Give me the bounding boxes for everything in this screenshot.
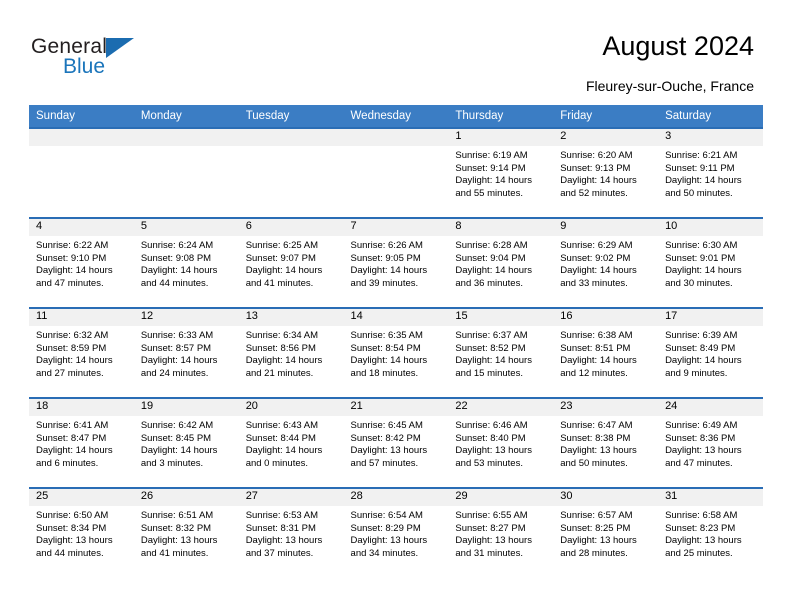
daylight-duration-line1: Daylight: 13 hours bbox=[36, 535, 128, 548]
day-number: 1 bbox=[448, 129, 553, 146]
calendar-day-cell-inner: 15Sunrise: 6:37 AMSunset: 8:52 PMDayligh… bbox=[448, 309, 553, 397]
day-details: Sunrise: 6:24 AMSunset: 9:08 PMDaylight:… bbox=[134, 236, 239, 290]
sunset-time: Sunset: 8:56 PM bbox=[246, 343, 338, 356]
day-details: Sunrise: 6:45 AMSunset: 8:42 PMDaylight:… bbox=[344, 416, 449, 470]
calendar-day-cell[interactable]: 14Sunrise: 6:35 AMSunset: 8:54 PMDayligh… bbox=[344, 308, 449, 398]
daylight-duration-line2: and 21 minutes. bbox=[246, 368, 338, 381]
calendar-day-cell[interactable]: 26Sunrise: 6:51 AMSunset: 8:32 PMDayligh… bbox=[134, 488, 239, 577]
calendar-day-cell-inner: 25Sunrise: 6:50 AMSunset: 8:34 PMDayligh… bbox=[29, 489, 134, 577]
day-number: 31 bbox=[658, 489, 763, 506]
sunset-time: Sunset: 8:57 PM bbox=[141, 343, 233, 356]
sunset-time: Sunset: 9:08 PM bbox=[141, 253, 233, 266]
day-details: Sunrise: 6:58 AMSunset: 8:23 PMDaylight:… bbox=[658, 506, 763, 560]
calendar-week-row: 25Sunrise: 6:50 AMSunset: 8:34 PMDayligh… bbox=[29, 488, 763, 577]
day-number: 11 bbox=[29, 309, 134, 326]
day-details: Sunrise: 6:33 AMSunset: 8:57 PMDaylight:… bbox=[134, 326, 239, 380]
calendar-day-cell[interactable]: 30Sunrise: 6:57 AMSunset: 8:25 PMDayligh… bbox=[553, 488, 658, 577]
daylight-duration-line1: Daylight: 13 hours bbox=[560, 535, 652, 548]
sunset-time: Sunset: 8:29 PM bbox=[351, 523, 443, 536]
sunrise-time: Sunrise: 6:25 AM bbox=[246, 240, 338, 253]
sunrise-time: Sunrise: 6:37 AM bbox=[455, 330, 547, 343]
sunset-time: Sunset: 8:38 PM bbox=[560, 433, 652, 446]
calendar-day-cell-inner: 2Sunrise: 6:20 AMSunset: 9:13 PMDaylight… bbox=[553, 129, 658, 217]
sunrise-time: Sunrise: 6:32 AM bbox=[36, 330, 128, 343]
daylight-duration-line2: and 57 minutes. bbox=[351, 458, 443, 471]
sunrise-time: Sunrise: 6:50 AM bbox=[36, 510, 128, 523]
calendar-day-cell[interactable]: 22Sunrise: 6:46 AMSunset: 8:40 PMDayligh… bbox=[448, 398, 553, 488]
calendar-day-cell[interactable]: 1Sunrise: 6:19 AMSunset: 9:14 PMDaylight… bbox=[448, 128, 553, 218]
weekday-header-saturday: Saturday bbox=[658, 105, 763, 128]
day-number: 7 bbox=[344, 219, 449, 236]
day-number: 4 bbox=[29, 219, 134, 236]
daylight-duration-line1: Daylight: 14 hours bbox=[141, 355, 233, 368]
day-number bbox=[239, 129, 344, 146]
daylight-duration-line1: Daylight: 14 hours bbox=[560, 355, 652, 368]
day-number: 20 bbox=[239, 399, 344, 416]
calendar-day-cell[interactable]: 9Sunrise: 6:29 AMSunset: 9:02 PMDaylight… bbox=[553, 218, 658, 308]
day-details: Sunrise: 6:50 AMSunset: 8:34 PMDaylight:… bbox=[29, 506, 134, 560]
sunset-time: Sunset: 9:14 PM bbox=[455, 163, 547, 176]
calendar-day-cell[interactable]: 19Sunrise: 6:42 AMSunset: 8:45 PMDayligh… bbox=[134, 398, 239, 488]
calendar-day-cell-inner: 8Sunrise: 6:28 AMSunset: 9:04 PMDaylight… bbox=[448, 219, 553, 307]
day-number: 26 bbox=[134, 489, 239, 506]
daylight-duration-line2: and 6 minutes. bbox=[36, 458, 128, 471]
calendar-day-cell[interactable] bbox=[344, 128, 449, 218]
daylight-duration-line2: and 0 minutes. bbox=[246, 458, 338, 471]
daylight-duration-line1: Daylight: 13 hours bbox=[665, 535, 757, 548]
calendar-day-cell-inner: 6Sunrise: 6:25 AMSunset: 9:07 PMDaylight… bbox=[239, 219, 344, 307]
calendar-day-cell-empty bbox=[344, 129, 449, 217]
sunset-time: Sunset: 8:31 PM bbox=[246, 523, 338, 536]
calendar-grid: Sunday Monday Tuesday Wednesday Thursday… bbox=[29, 105, 763, 577]
daylight-duration-line1: Daylight: 13 hours bbox=[455, 445, 547, 458]
calendar-day-cell[interactable] bbox=[239, 128, 344, 218]
daylight-duration-line1: Daylight: 14 hours bbox=[455, 355, 547, 368]
sunset-time: Sunset: 8:34 PM bbox=[36, 523, 128, 536]
sunset-time: Sunset: 8:49 PM bbox=[665, 343, 757, 356]
daylight-duration-line1: Daylight: 14 hours bbox=[141, 445, 233, 458]
calendar-day-cell[interactable]: 11Sunrise: 6:32 AMSunset: 8:59 PMDayligh… bbox=[29, 308, 134, 398]
daylight-duration-line1: Daylight: 14 hours bbox=[246, 355, 338, 368]
calendar-week-row: 11Sunrise: 6:32 AMSunset: 8:59 PMDayligh… bbox=[29, 308, 763, 398]
daylight-duration-line2: and 44 minutes. bbox=[141, 278, 233, 291]
daylight-duration-line2: and 31 minutes. bbox=[455, 548, 547, 561]
calendar-day-cell[interactable]: 2Sunrise: 6:20 AMSunset: 9:13 PMDaylight… bbox=[553, 128, 658, 218]
calendar-day-cell[interactable]: 31Sunrise: 6:58 AMSunset: 8:23 PMDayligh… bbox=[658, 488, 763, 577]
sunrise-time: Sunrise: 6:19 AM bbox=[455, 150, 547, 163]
daylight-duration-line2: and 3 minutes. bbox=[141, 458, 233, 471]
calendar-day-cell-inner: 29Sunrise: 6:55 AMSunset: 8:27 PMDayligh… bbox=[448, 489, 553, 577]
daylight-duration-line1: Daylight: 14 hours bbox=[455, 175, 547, 188]
daylight-duration-line1: Daylight: 13 hours bbox=[560, 445, 652, 458]
daylight-duration-line2: and 12 minutes. bbox=[560, 368, 652, 381]
daylight-duration-line1: Daylight: 13 hours bbox=[665, 445, 757, 458]
sunrise-time: Sunrise: 6:41 AM bbox=[36, 420, 128, 433]
sunrise-time: Sunrise: 6:47 AM bbox=[560, 420, 652, 433]
calendar-week-row: 1Sunrise: 6:19 AMSunset: 9:14 PMDaylight… bbox=[29, 128, 763, 218]
sunset-time: Sunset: 8:42 PM bbox=[351, 433, 443, 446]
calendar-header-row: Sunday Monday Tuesday Wednesday Thursday… bbox=[29, 105, 763, 128]
sunrise-time: Sunrise: 6:20 AM bbox=[560, 150, 652, 163]
page-title: August 2024 bbox=[602, 31, 754, 62]
calendar-day-cell[interactable]: 10Sunrise: 6:30 AMSunset: 9:01 PMDayligh… bbox=[658, 218, 763, 308]
daylight-duration-line2: and 25 minutes. bbox=[665, 548, 757, 561]
sunrise-time: Sunrise: 6:26 AM bbox=[351, 240, 443, 253]
sunrise-time: Sunrise: 6:55 AM bbox=[455, 510, 547, 523]
calendar-day-cell-inner: 22Sunrise: 6:46 AMSunset: 8:40 PMDayligh… bbox=[448, 399, 553, 487]
sunrise-time: Sunrise: 6:30 AM bbox=[665, 240, 757, 253]
daylight-duration-line1: Daylight: 13 hours bbox=[351, 445, 443, 458]
sunrise-time: Sunrise: 6:46 AM bbox=[455, 420, 547, 433]
calendar-day-cell[interactable]: 4Sunrise: 6:22 AMSunset: 9:10 PMDaylight… bbox=[29, 218, 134, 308]
day-details: Sunrise: 6:38 AMSunset: 8:51 PMDaylight:… bbox=[553, 326, 658, 380]
weekday-header-friday: Friday bbox=[553, 105, 658, 128]
daylight-duration-line1: Daylight: 14 hours bbox=[36, 355, 128, 368]
sunrise-time: Sunrise: 6:24 AM bbox=[141, 240, 233, 253]
day-number: 24 bbox=[658, 399, 763, 416]
day-details: Sunrise: 6:22 AMSunset: 9:10 PMDaylight:… bbox=[29, 236, 134, 290]
day-number: 22 bbox=[448, 399, 553, 416]
daylight-duration-line2: and 27 minutes. bbox=[36, 368, 128, 381]
daylight-duration-line2: and 47 minutes. bbox=[665, 458, 757, 471]
sunset-time: Sunset: 9:04 PM bbox=[455, 253, 547, 266]
day-details: Sunrise: 6:34 AMSunset: 8:56 PMDaylight:… bbox=[239, 326, 344, 380]
daylight-duration-line2: and 18 minutes. bbox=[351, 368, 443, 381]
calendar-day-cell[interactable]: 8Sunrise: 6:28 AMSunset: 9:04 PMDaylight… bbox=[448, 218, 553, 308]
sunset-time: Sunset: 8:32 PM bbox=[141, 523, 233, 536]
day-number: 21 bbox=[344, 399, 449, 416]
sunset-time: Sunset: 9:10 PM bbox=[36, 253, 128, 266]
calendar-day-cell-inner: 19Sunrise: 6:42 AMSunset: 8:45 PMDayligh… bbox=[134, 399, 239, 487]
day-number: 14 bbox=[344, 309, 449, 326]
daylight-duration-line2: and 47 minutes. bbox=[36, 278, 128, 291]
sunrise-time: Sunrise: 6:29 AM bbox=[560, 240, 652, 253]
day-number: 12 bbox=[134, 309, 239, 326]
daylight-duration-line1: Daylight: 14 hours bbox=[36, 445, 128, 458]
sunset-time: Sunset: 8:40 PM bbox=[455, 433, 547, 446]
calendar-day-cell[interactable] bbox=[29, 128, 134, 218]
calendar-day-cell-inner: 23Sunrise: 6:47 AMSunset: 8:38 PMDayligh… bbox=[553, 399, 658, 487]
sunrise-time: Sunrise: 6:53 AM bbox=[246, 510, 338, 523]
day-details: Sunrise: 6:53 AMSunset: 8:31 PMDaylight:… bbox=[239, 506, 344, 560]
daylight-duration-line1: Daylight: 13 hours bbox=[246, 535, 338, 548]
day-number bbox=[344, 129, 449, 146]
daylight-duration-line1: Daylight: 14 hours bbox=[141, 265, 233, 278]
calendar-day-cell-empty bbox=[239, 129, 344, 217]
calendar-day-cell[interactable] bbox=[134, 128, 239, 218]
day-number: 27 bbox=[239, 489, 344, 506]
day-details: Sunrise: 6:43 AMSunset: 8:44 PMDaylight:… bbox=[239, 416, 344, 470]
calendar-day-cell-inner: 18Sunrise: 6:41 AMSunset: 8:47 PMDayligh… bbox=[29, 399, 134, 487]
weekday-header-tuesday: Tuesday bbox=[239, 105, 344, 128]
day-number: 17 bbox=[658, 309, 763, 326]
sunset-time: Sunset: 9:07 PM bbox=[246, 253, 338, 266]
sunset-time: Sunset: 8:44 PM bbox=[246, 433, 338, 446]
daylight-duration-line2: and 39 minutes. bbox=[351, 278, 443, 291]
logo-text-blue: Blue bbox=[63, 55, 105, 79]
sunset-time: Sunset: 9:13 PM bbox=[560, 163, 652, 176]
calendar-page: General Blue August 2024 Fleurey-sur-Ouc… bbox=[0, 0, 792, 612]
sunrise-time: Sunrise: 6:34 AM bbox=[246, 330, 338, 343]
day-number: 2 bbox=[553, 129, 658, 146]
day-number: 30 bbox=[553, 489, 658, 506]
daylight-duration-line2: and 55 minutes. bbox=[455, 188, 547, 201]
calendar-day-cell[interactable]: 24Sunrise: 6:49 AMSunset: 8:36 PMDayligh… bbox=[658, 398, 763, 488]
day-number: 9 bbox=[553, 219, 658, 236]
day-number: 8 bbox=[448, 219, 553, 236]
calendar-day-cell[interactable]: 16Sunrise: 6:38 AMSunset: 8:51 PMDayligh… bbox=[553, 308, 658, 398]
weekday-header-sunday: Sunday bbox=[29, 105, 134, 128]
day-details: Sunrise: 6:29 AMSunset: 9:02 PMDaylight:… bbox=[553, 236, 658, 290]
daylight-duration-line2: and 30 minutes. bbox=[665, 278, 757, 291]
calendar-day-cell-inner: 4Sunrise: 6:22 AMSunset: 9:10 PMDaylight… bbox=[29, 219, 134, 307]
sunrise-time: Sunrise: 6:54 AM bbox=[351, 510, 443, 523]
sunrise-time: Sunrise: 6:58 AM bbox=[665, 510, 757, 523]
day-details: Sunrise: 6:37 AMSunset: 8:52 PMDaylight:… bbox=[448, 326, 553, 380]
daylight-duration-line1: Daylight: 14 hours bbox=[455, 265, 547, 278]
calendar-day-cell-inner: 3Sunrise: 6:21 AMSunset: 9:11 PMDaylight… bbox=[658, 129, 763, 217]
day-details: Sunrise: 6:41 AMSunset: 8:47 PMDaylight:… bbox=[29, 416, 134, 470]
calendar-day-cell-inner: 1Sunrise: 6:19 AMSunset: 9:14 PMDaylight… bbox=[448, 129, 553, 217]
daylight-duration-line1: Daylight: 13 hours bbox=[455, 535, 547, 548]
daylight-duration-line2: and 9 minutes. bbox=[665, 368, 757, 381]
day-number: 29 bbox=[448, 489, 553, 506]
calendar-day-cell-inner: 17Sunrise: 6:39 AMSunset: 8:49 PMDayligh… bbox=[658, 309, 763, 397]
day-details: Sunrise: 6:55 AMSunset: 8:27 PMDaylight:… bbox=[448, 506, 553, 560]
day-number: 5 bbox=[134, 219, 239, 236]
daylight-duration-line1: Daylight: 14 hours bbox=[665, 265, 757, 278]
sunrise-time: Sunrise: 6:35 AM bbox=[351, 330, 443, 343]
weekday-header-wednesday: Wednesday bbox=[344, 105, 449, 128]
day-number: 25 bbox=[29, 489, 134, 506]
calendar-day-cell[interactable]: 18Sunrise: 6:41 AMSunset: 8:47 PMDayligh… bbox=[29, 398, 134, 488]
daylight-duration-line1: Daylight: 14 hours bbox=[560, 175, 652, 188]
daylight-duration-line1: Daylight: 14 hours bbox=[665, 175, 757, 188]
weekday-header-monday: Monday bbox=[134, 105, 239, 128]
day-details: Sunrise: 6:46 AMSunset: 8:40 PMDaylight:… bbox=[448, 416, 553, 470]
calendar-day-cell[interactable]: 23Sunrise: 6:47 AMSunset: 8:38 PMDayligh… bbox=[553, 398, 658, 488]
calendar-day-cell-inner: 11Sunrise: 6:32 AMSunset: 8:59 PMDayligh… bbox=[29, 309, 134, 397]
calendar-table: Sunday Monday Tuesday Wednesday Thursday… bbox=[29, 105, 763, 577]
daylight-duration-line1: Daylight: 13 hours bbox=[351, 535, 443, 548]
calendar-body: 1Sunrise: 6:19 AMSunset: 9:14 PMDaylight… bbox=[29, 128, 763, 577]
daylight-duration-line2: and 53 minutes. bbox=[455, 458, 547, 471]
calendar-day-cell-inner: 31Sunrise: 6:58 AMSunset: 8:23 PMDayligh… bbox=[658, 489, 763, 577]
day-details: Sunrise: 6:57 AMSunset: 8:25 PMDaylight:… bbox=[553, 506, 658, 560]
day-details: Sunrise: 6:19 AMSunset: 9:14 PMDaylight:… bbox=[448, 146, 553, 200]
daylight-duration-line2: and 50 minutes. bbox=[665, 188, 757, 201]
daylight-duration-line2: and 41 minutes. bbox=[246, 278, 338, 291]
sunset-time: Sunset: 9:01 PM bbox=[665, 253, 757, 266]
calendar-day-cell-empty bbox=[29, 129, 134, 217]
daylight-duration-line2: and 37 minutes. bbox=[246, 548, 338, 561]
page-header: General Blue August 2024 Fleurey-sur-Ouc… bbox=[0, 0, 792, 100]
sunset-time: Sunset: 9:05 PM bbox=[351, 253, 443, 266]
daylight-duration-line1: Daylight: 13 hours bbox=[141, 535, 233, 548]
day-number: 15 bbox=[448, 309, 553, 326]
daylight-duration-line1: Daylight: 14 hours bbox=[246, 445, 338, 458]
calendar-day-cell-inner: 24Sunrise: 6:49 AMSunset: 8:36 PMDayligh… bbox=[658, 399, 763, 487]
sunrise-time: Sunrise: 6:39 AM bbox=[665, 330, 757, 343]
sunrise-time: Sunrise: 6:57 AM bbox=[560, 510, 652, 523]
daylight-duration-line2: and 41 minutes. bbox=[141, 548, 233, 561]
daylight-duration-line1: Daylight: 14 hours bbox=[36, 265, 128, 278]
sunset-time: Sunset: 9:02 PM bbox=[560, 253, 652, 266]
sunrise-time: Sunrise: 6:43 AM bbox=[246, 420, 338, 433]
day-number bbox=[134, 129, 239, 146]
calendar-day-cell-inner: 20Sunrise: 6:43 AMSunset: 8:44 PMDayligh… bbox=[239, 399, 344, 487]
day-number bbox=[29, 129, 134, 146]
sunset-time: Sunset: 8:25 PM bbox=[560, 523, 652, 536]
calendar-day-cell-inner: 26Sunrise: 6:51 AMSunset: 8:32 PMDayligh… bbox=[134, 489, 239, 577]
sunset-time: Sunset: 8:36 PM bbox=[665, 433, 757, 446]
sunrise-time: Sunrise: 6:51 AM bbox=[141, 510, 233, 523]
calendar-day-cell-inner: 27Sunrise: 6:53 AMSunset: 8:31 PMDayligh… bbox=[239, 489, 344, 577]
logo-triangle-icon bbox=[106, 38, 134, 58]
daylight-duration-line1: Daylight: 14 hours bbox=[665, 355, 757, 368]
day-details: Sunrise: 6:30 AMSunset: 9:01 PMDaylight:… bbox=[658, 236, 763, 290]
calendar-day-cell[interactable]: 25Sunrise: 6:50 AMSunset: 8:34 PMDayligh… bbox=[29, 488, 134, 577]
day-number: 19 bbox=[134, 399, 239, 416]
sunset-time: Sunset: 8:59 PM bbox=[36, 343, 128, 356]
daylight-duration-line1: Daylight: 14 hours bbox=[351, 265, 443, 278]
sunset-time: Sunset: 8:51 PM bbox=[560, 343, 652, 356]
sunrise-time: Sunrise: 6:33 AM bbox=[141, 330, 233, 343]
calendar-day-cell[interactable]: 6Sunrise: 6:25 AMSunset: 9:07 PMDaylight… bbox=[239, 218, 344, 308]
sunrise-time: Sunrise: 6:22 AM bbox=[36, 240, 128, 253]
day-details: Sunrise: 6:28 AMSunset: 9:04 PMDaylight:… bbox=[448, 236, 553, 290]
calendar-day-cell[interactable]: 15Sunrise: 6:37 AMSunset: 8:52 PMDayligh… bbox=[448, 308, 553, 398]
day-number: 10 bbox=[658, 219, 763, 236]
daylight-duration-line2: and 52 minutes. bbox=[560, 188, 652, 201]
calendar-day-cell-inner: 5Sunrise: 6:24 AMSunset: 9:08 PMDaylight… bbox=[134, 219, 239, 307]
sunset-time: Sunset: 8:52 PM bbox=[455, 343, 547, 356]
sunset-time: Sunset: 8:47 PM bbox=[36, 433, 128, 446]
sunset-time: Sunset: 8:23 PM bbox=[665, 523, 757, 536]
day-number: 6 bbox=[239, 219, 344, 236]
daylight-duration-line2: and 15 minutes. bbox=[455, 368, 547, 381]
day-number: 3 bbox=[658, 129, 763, 146]
day-details: Sunrise: 6:20 AMSunset: 9:13 PMDaylight:… bbox=[553, 146, 658, 200]
calendar-day-cell[interactable]: 5Sunrise: 6:24 AMSunset: 9:08 PMDaylight… bbox=[134, 218, 239, 308]
sunrise-time: Sunrise: 6:21 AM bbox=[665, 150, 757, 163]
calendar-day-cell[interactable]: 29Sunrise: 6:55 AMSunset: 8:27 PMDayligh… bbox=[448, 488, 553, 577]
calendar-day-cell-inner: 30Sunrise: 6:57 AMSunset: 8:25 PMDayligh… bbox=[553, 489, 658, 577]
daylight-duration-line1: Daylight: 14 hours bbox=[560, 265, 652, 278]
daylight-duration-line1: Daylight: 14 hours bbox=[246, 265, 338, 278]
calendar-day-cell-empty bbox=[134, 129, 239, 217]
calendar-day-cell[interactable]: 27Sunrise: 6:53 AMSunset: 8:31 PMDayligh… bbox=[239, 488, 344, 577]
calendar-day-cell[interactable]: 7Sunrise: 6:26 AMSunset: 9:05 PMDaylight… bbox=[344, 218, 449, 308]
calendar-day-cell[interactable]: 12Sunrise: 6:33 AMSunset: 8:57 PMDayligh… bbox=[134, 308, 239, 398]
calendar-day-cell[interactable]: 28Sunrise: 6:54 AMSunset: 8:29 PMDayligh… bbox=[344, 488, 449, 577]
calendar-day-cell-inner: 13Sunrise: 6:34 AMSunset: 8:56 PMDayligh… bbox=[239, 309, 344, 397]
sunset-time: Sunset: 8:27 PM bbox=[455, 523, 547, 536]
daylight-duration-line2: and 33 minutes. bbox=[560, 278, 652, 291]
calendar-day-cell[interactable]: 13Sunrise: 6:34 AMSunset: 8:56 PMDayligh… bbox=[239, 308, 344, 398]
calendar-day-cell-inner: 16Sunrise: 6:38 AMSunset: 8:51 PMDayligh… bbox=[553, 309, 658, 397]
calendar-day-cell[interactable]: 3Sunrise: 6:21 AMSunset: 9:11 PMDaylight… bbox=[658, 128, 763, 218]
day-details: Sunrise: 6:21 AMSunset: 9:11 PMDaylight:… bbox=[658, 146, 763, 200]
calendar-day-cell-inner: 28Sunrise: 6:54 AMSunset: 8:29 PMDayligh… bbox=[344, 489, 449, 577]
daylight-duration-line2: and 44 minutes. bbox=[36, 548, 128, 561]
day-details: Sunrise: 6:25 AMSunset: 9:07 PMDaylight:… bbox=[239, 236, 344, 290]
sunset-time: Sunset: 8:45 PM bbox=[141, 433, 233, 446]
sunrise-time: Sunrise: 6:49 AM bbox=[665, 420, 757, 433]
calendar-week-row: 4Sunrise: 6:22 AMSunset: 9:10 PMDaylight… bbox=[29, 218, 763, 308]
calendar-day-cell[interactable]: 21Sunrise: 6:45 AMSunset: 8:42 PMDayligh… bbox=[344, 398, 449, 488]
calendar-day-cell-inner: 10Sunrise: 6:30 AMSunset: 9:01 PMDayligh… bbox=[658, 219, 763, 307]
daylight-duration-line2: and 24 minutes. bbox=[141, 368, 233, 381]
sunrise-time: Sunrise: 6:42 AM bbox=[141, 420, 233, 433]
day-details: Sunrise: 6:54 AMSunset: 8:29 PMDaylight:… bbox=[344, 506, 449, 560]
day-number: 16 bbox=[553, 309, 658, 326]
calendar-day-cell-inner: 14Sunrise: 6:35 AMSunset: 8:54 PMDayligh… bbox=[344, 309, 449, 397]
day-details: Sunrise: 6:35 AMSunset: 8:54 PMDaylight:… bbox=[344, 326, 449, 380]
daylight-duration-line1: Daylight: 14 hours bbox=[351, 355, 443, 368]
day-details: Sunrise: 6:39 AMSunset: 8:49 PMDaylight:… bbox=[658, 326, 763, 380]
calendar-week-row: 18Sunrise: 6:41 AMSunset: 8:47 PMDayligh… bbox=[29, 398, 763, 488]
sunrise-time: Sunrise: 6:28 AM bbox=[455, 240, 547, 253]
day-details: Sunrise: 6:51 AMSunset: 8:32 PMDaylight:… bbox=[134, 506, 239, 560]
day-number: 13 bbox=[239, 309, 344, 326]
calendar-day-cell-inner: 21Sunrise: 6:45 AMSunset: 8:42 PMDayligh… bbox=[344, 399, 449, 487]
page-subtitle-location: Fleurey-sur-Ouche, France bbox=[586, 78, 754, 94]
calendar-day-cell-inner: 9Sunrise: 6:29 AMSunset: 9:02 PMDaylight… bbox=[553, 219, 658, 307]
daylight-duration-line2: and 36 minutes. bbox=[455, 278, 547, 291]
weekday-header-thursday: Thursday bbox=[448, 105, 553, 128]
daylight-duration-line2: and 28 minutes. bbox=[560, 548, 652, 561]
day-details: Sunrise: 6:26 AMSunset: 9:05 PMDaylight:… bbox=[344, 236, 449, 290]
day-details: Sunrise: 6:42 AMSunset: 8:45 PMDaylight:… bbox=[134, 416, 239, 470]
daylight-duration-line2: and 34 minutes. bbox=[351, 548, 443, 561]
day-number: 28 bbox=[344, 489, 449, 506]
day-number: 23 bbox=[553, 399, 658, 416]
calendar-day-cell-inner: 12Sunrise: 6:33 AMSunset: 8:57 PMDayligh… bbox=[134, 309, 239, 397]
sunset-time: Sunset: 8:54 PM bbox=[351, 343, 443, 356]
day-details: Sunrise: 6:47 AMSunset: 8:38 PMDaylight:… bbox=[553, 416, 658, 470]
day-number: 18 bbox=[29, 399, 134, 416]
sunrise-time: Sunrise: 6:45 AM bbox=[351, 420, 443, 433]
calendar-day-cell[interactable]: 17Sunrise: 6:39 AMSunset: 8:49 PMDayligh… bbox=[658, 308, 763, 398]
day-details: Sunrise: 6:32 AMSunset: 8:59 PMDaylight:… bbox=[29, 326, 134, 380]
daylight-duration-line2: and 50 minutes. bbox=[560, 458, 652, 471]
sunrise-time: Sunrise: 6:38 AM bbox=[560, 330, 652, 343]
day-details: Sunrise: 6:49 AMSunset: 8:36 PMDaylight:… bbox=[658, 416, 763, 470]
calendar-day-cell[interactable]: 20Sunrise: 6:43 AMSunset: 8:44 PMDayligh… bbox=[239, 398, 344, 488]
sunset-time: Sunset: 9:11 PM bbox=[665, 163, 757, 176]
calendar-day-cell-inner: 7Sunrise: 6:26 AMSunset: 9:05 PMDaylight… bbox=[344, 219, 449, 307]
general-blue-logo[interactable]: General Blue bbox=[31, 35, 221, 85]
